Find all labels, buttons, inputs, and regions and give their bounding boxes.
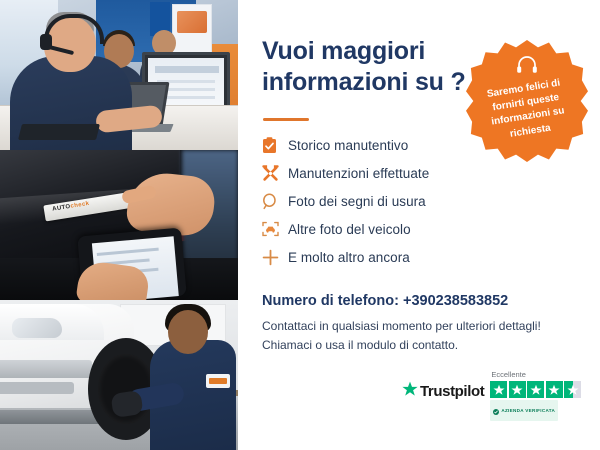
photo-keyboard bbox=[18, 124, 100, 140]
trustpilot-wordmark: Trustpilot bbox=[420, 383, 484, 400]
title-underline bbox=[263, 118, 309, 121]
photo-tablet-line bbox=[97, 248, 159, 256]
photo-grille bbox=[0, 360, 92, 378]
vehicle-inspection-photo: AUTOcheck bbox=[0, 150, 238, 300]
headset-icon bbox=[516, 56, 538, 79]
list-item: Foto dei segni di usura bbox=[262, 187, 542, 215]
phone-line: Numero di telefono: +390238583852 bbox=[262, 293, 508, 309]
verified-company-text: AZIENDA VERIFICATA bbox=[501, 408, 555, 413]
photo-column: AUTOcheck bbox=[0, 0, 238, 450]
plus-icon bbox=[262, 249, 288, 266]
phone-label: Numero di telefono: bbox=[262, 293, 403, 309]
photo-monitor-bar bbox=[155, 66, 219, 73]
verified-company-badge: AZIENDA VERIFICATA bbox=[490, 400, 558, 421]
trustpilot-widget[interactable]: Trustpilot Eccellente bbox=[402, 370, 588, 421]
page-title: Vuoi maggiori informazioni su ? bbox=[262, 36, 492, 97]
mechanic-wheel-photo bbox=[0, 300, 238, 450]
phone-number[interactable]: +390238583852 bbox=[403, 293, 508, 309]
contact-line-1: Contattaci in qualsiasi momento per ulte… bbox=[262, 317, 572, 336]
star-filled-icon bbox=[490, 381, 507, 398]
list-item-label: E molto altro ancora bbox=[288, 250, 410, 265]
trustpilot-rating-block: Eccellente bbox=[490, 370, 581, 421]
photo-grille-lower bbox=[0, 382, 74, 394]
content-panel: Vuoi maggiori informazioni su ? Saremo f… bbox=[238, 0, 600, 450]
crossed-tools-icon bbox=[262, 165, 288, 182]
clipboard-check-icon bbox=[262, 137, 288, 154]
trustpilot-rating-label: Eccellente bbox=[491, 370, 581, 379]
call-center-agent-photo bbox=[0, 0, 238, 150]
photo-uniform-logo bbox=[206, 374, 230, 388]
photo-poster bbox=[172, 4, 212, 58]
trustpilot-star-icon bbox=[402, 381, 418, 402]
magnifier-icon bbox=[262, 193, 288, 210]
trustpilot-stars bbox=[490, 381, 581, 398]
list-item: E molto altro ancora bbox=[262, 243, 542, 271]
list-item-label: Altre foto del veicolo bbox=[288, 222, 411, 237]
promo-card: AUTOcheck bbox=[0, 0, 600, 450]
verified-check-icon bbox=[493, 402, 499, 420]
star-filled-icon bbox=[509, 381, 526, 398]
list-item: Manutenzioni effettuate bbox=[262, 159, 542, 187]
trustpilot-brand: Trustpilot bbox=[402, 381, 484, 402]
contact-description: Contattaci in qualsiasi momento per ulte… bbox=[262, 317, 572, 354]
list-item-label: Storico manutentivo bbox=[288, 138, 408, 153]
feature-list: Storico manutentivo Manutenzioni effettu… bbox=[262, 131, 542, 271]
list-item: Altre foto del veicolo bbox=[262, 215, 542, 243]
car-scan-icon bbox=[262, 221, 288, 237]
photo-headlight bbox=[12, 318, 62, 338]
list-item-label: Manutenzioni effettuate bbox=[288, 166, 429, 181]
star-filled-icon bbox=[546, 381, 563, 398]
contact-line-2: Chiamaci o usa il modulo di contatto. bbox=[262, 336, 572, 355]
list-item-label: Foto dei segni di usura bbox=[288, 194, 426, 209]
photo-mechanic-head bbox=[168, 310, 208, 354]
star-filled-icon bbox=[527, 381, 544, 398]
list-item: Storico manutentivo bbox=[262, 131, 542, 159]
star-half-icon bbox=[564, 381, 581, 398]
